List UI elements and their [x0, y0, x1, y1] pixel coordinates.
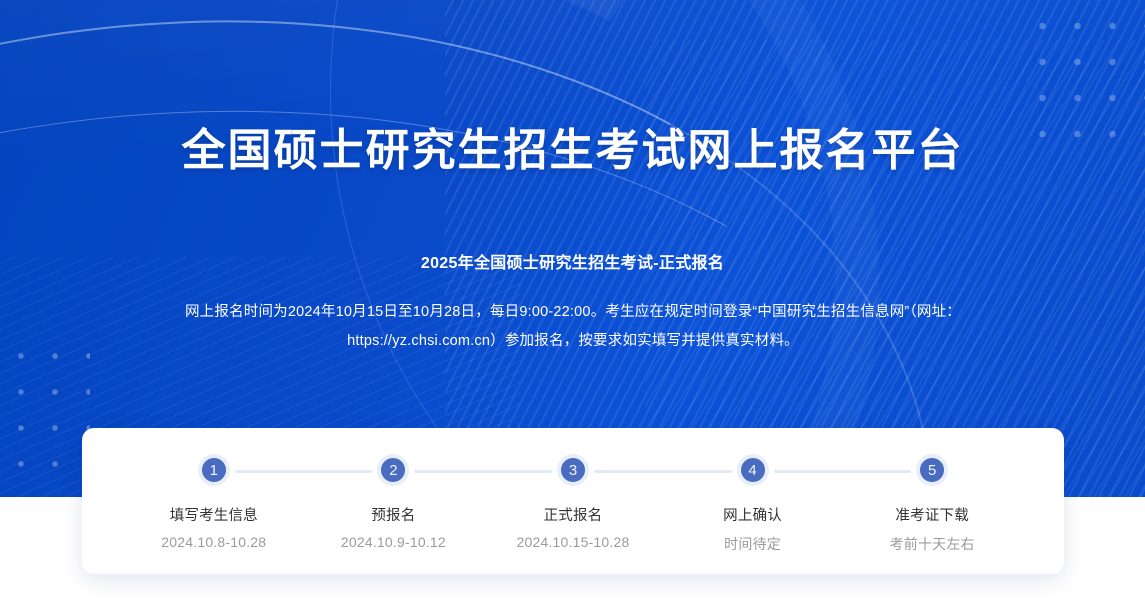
step-label: 网上确认	[723, 504, 782, 525]
hero-description: 网上报名时间为2024年10月15日至10月28日，每日9:00-22:00。考…	[122, 298, 1024, 356]
step-label: 准考证下载	[895, 504, 969, 525]
step-date: 2024.10.9-10.12	[341, 534, 446, 550]
registration-platform-page: 全国硕士研究生招生考试网上报名平台 2025年全国硕士研究生招生考试-正式报名 …	[0, 0, 1145, 600]
registration-step-3[interactable]: 3正式报名2024.10.15-10.28	[483, 454, 663, 550]
dot-grid-bottom-left	[4, 338, 90, 497]
hero-banner: 全国硕士研究生招生考试网上报名平台 2025年全国硕士研究生招生考试-正式报名 …	[0, 0, 1145, 497]
registration-step-2[interactable]: 2预报名2024.10.9-10.12	[304, 454, 484, 550]
step-date: 2024.10.15-10.28	[517, 534, 630, 550]
step-date: 2024.10.8-10.28	[161, 534, 266, 550]
step-date: 考前十天左右	[890, 534, 975, 554]
hero-subtitle: 2025年全国硕士研究生招生考试-正式报名	[0, 249, 1145, 273]
registration-steps-list: 1填写考生信息2024.10.8-10.282预报名2024.10.9-10.1…	[82, 428, 1064, 574]
step-number-badge: 5	[916, 454, 948, 486]
registration-step-1[interactable]: 1填写考生信息2024.10.8-10.28	[124, 454, 304, 550]
step-label: 填写考生信息	[170, 504, 258, 525]
step-number-badge: 1	[198, 454, 230, 486]
step-number-badge: 4	[737, 454, 769, 486]
step-date: 时间待定	[724, 534, 781, 554]
step-number-badge: 3	[557, 454, 589, 486]
step-label: 正式报名	[544, 504, 603, 525]
page-title: 全国硕士研究生招生考试网上报名平台	[0, 114, 1145, 178]
step-number-badge: 2	[377, 454, 409, 486]
registration-step-5[interactable]: 5准考证下载考前十天左右	[842, 454, 1022, 554]
registration-step-4[interactable]: 4网上确认时间待定	[663, 454, 843, 554]
registration-steps-card: 1填写考生信息2024.10.8-10.282预报名2024.10.9-10.1…	[82, 428, 1064, 574]
step-label: 预报名	[371, 504, 415, 525]
